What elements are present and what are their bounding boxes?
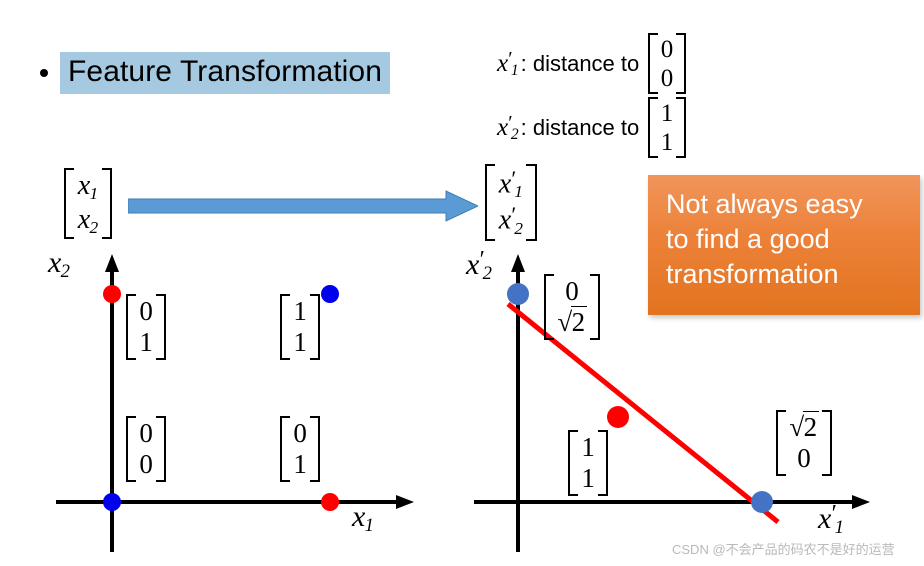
vector-value: 0	[139, 418, 153, 449]
output-feature-vector: x′1 x′2	[485, 164, 537, 241]
bracket-right	[590, 274, 600, 340]
bracket-left	[280, 416, 290, 482]
definition-vector-1: 0 0	[648, 33, 686, 94]
bracket-right	[676, 97, 686, 158]
callout-line-1: Not always easy	[666, 187, 920, 222]
bracket-left	[126, 416, 136, 482]
vector-value: x′1	[499, 166, 523, 203]
point-label-0-sqrt2: 0 √2	[544, 274, 600, 340]
y-axis-arrowhead	[511, 254, 525, 272]
definition-text-1: : distance to	[521, 51, 640, 77]
vector-value: 1	[293, 449, 307, 480]
bracket-right	[102, 168, 112, 239]
bracket-right	[526, 164, 536, 241]
vector-value: 1	[581, 432, 595, 463]
data-point-1-1	[321, 285, 339, 303]
definition-row-x1prime: x′1 : distance to 0 0	[497, 33, 686, 94]
page-title: Feature Transformation	[60, 52, 390, 94]
chart-original-feature-space: x2 x1 0 1 1 1 0 0	[34, 252, 434, 560]
data-point-1-1	[607, 406, 629, 428]
point-label-1-1: 1 1	[280, 294, 320, 360]
definition-symbol-x2prime: x′2	[497, 113, 519, 143]
watermark-text: CSDN @不会产品的码农不是好的运营	[672, 539, 895, 558]
input-feature-vector: x1 x2	[64, 168, 112, 239]
chart-transformed-feature-space: x′2 x′1 0 √2 1 1 √2 0	[466, 252, 916, 560]
data-point-sqrt2-0	[751, 491, 773, 513]
bracket-left	[776, 410, 786, 476]
bracket-right	[310, 294, 320, 360]
bullet-dot-icon	[40, 69, 48, 77]
bracket-right	[822, 410, 832, 476]
axis-label-x2: x2	[48, 248, 70, 282]
vector-value: 1	[661, 99, 674, 128]
point-label-sqrt2-0: √2 0	[776, 410, 832, 476]
transformation-arrow	[128, 190, 478, 222]
x-axis-arrowhead	[852, 495, 870, 509]
slide-canvas: Feature Transformation x′1 : distance to…	[0, 0, 924, 566]
data-point-0-0	[103, 493, 121, 511]
bracket-left	[485, 164, 495, 241]
definition-text-2: : distance to	[521, 115, 640, 141]
definition-vector-2: 1 1	[648, 97, 686, 158]
vector-value: 0	[661, 64, 674, 93]
bracket-left	[126, 294, 136, 360]
y-axis-arrowhead	[105, 254, 119, 272]
data-point-1-0	[321, 493, 339, 511]
vector-value: 1	[293, 296, 307, 327]
axis-label-x2prime: x′2	[466, 248, 492, 284]
bracket-right	[310, 416, 320, 482]
definition-symbol-x1prime: x′1	[497, 49, 519, 79]
bracket-left	[544, 274, 554, 340]
bullet-title-row: Feature Transformation	[40, 52, 390, 94]
bracket-left	[648, 33, 658, 94]
vector-value: x1	[78, 170, 98, 204]
vector-value: 0	[293, 418, 307, 449]
vector-value: √2	[557, 307, 586, 338]
definition-row-x2prime: x′2 : distance to 1 1	[497, 97, 686, 158]
vector-value: 1	[139, 327, 153, 358]
data-point-0-1	[103, 285, 121, 303]
bracket-right	[598, 430, 608, 496]
vector-value: x′2	[499, 202, 523, 239]
vector-value: 0	[565, 276, 579, 307]
vector-value: 1	[661, 128, 674, 157]
vector-value: 1	[581, 463, 595, 494]
x-axis-arrowhead	[396, 495, 414, 509]
bracket-right	[676, 33, 686, 94]
point-label-1-0: 0 1	[280, 416, 320, 482]
point-label-0-1: 0 1	[126, 294, 166, 360]
vector-value: 0	[797, 443, 811, 474]
bracket-left	[64, 168, 74, 239]
bracket-left	[280, 294, 290, 360]
data-point-0-sqrt2	[507, 283, 529, 305]
vector-value: 0	[139, 449, 153, 480]
axis-label-x1: x1	[352, 502, 374, 536]
point-label-1-1: 1 1	[568, 430, 608, 496]
axis-label-x1prime: x′1	[818, 502, 844, 538]
vector-value: 0	[661, 35, 674, 64]
bracket-left	[648, 97, 658, 158]
vector-value: √2	[789, 412, 818, 443]
bracket-left	[568, 430, 578, 496]
vector-value: 1	[293, 327, 307, 358]
bracket-right	[156, 294, 166, 360]
bracket-right	[156, 416, 166, 482]
vector-value: x2	[78, 204, 98, 238]
point-label-0-0: 0 0	[126, 416, 166, 482]
vector-value: 0	[139, 296, 153, 327]
